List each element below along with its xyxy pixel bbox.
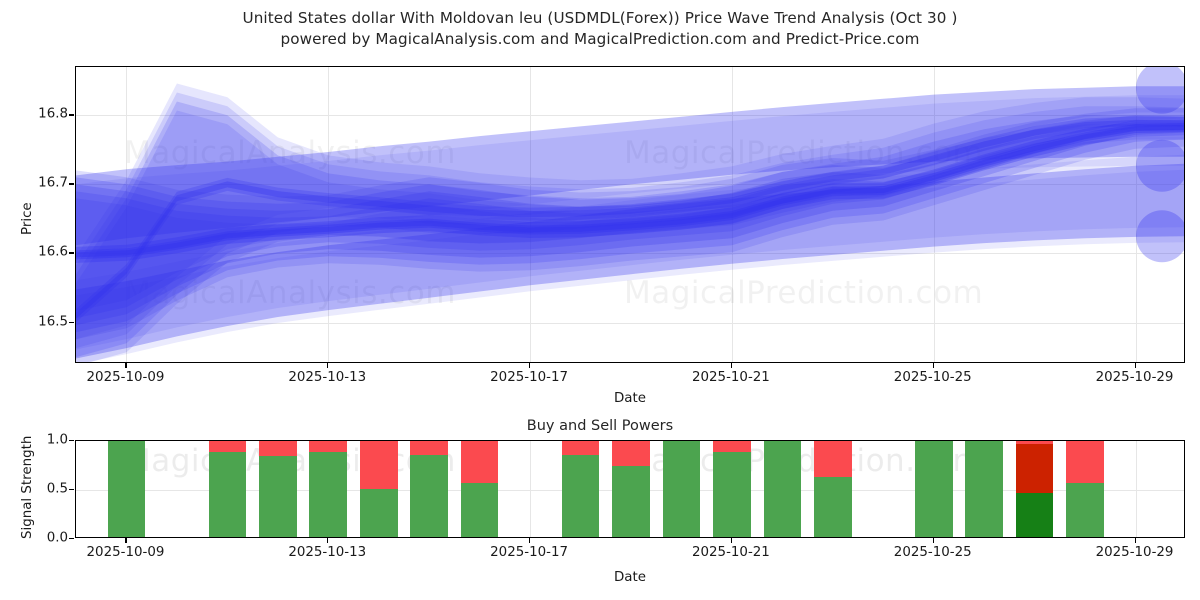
signal-bar[interactable]: [1066, 440, 1104, 537]
signal-xtick-mark-3: [731, 538, 732, 543]
signal-xtick-label-3: 2025-10-21: [692, 545, 770, 560]
buy-power-segment: [915, 440, 953, 537]
price-ytick-label-0: 16.5: [38, 314, 68, 329]
buy-power-segment: [1066, 483, 1104, 537]
signal-axis-label-x: Date: [614, 570, 646, 585]
buy-sell-powers-plot-area: MagicalAnalysis.comMagicalPrediction.com: [75, 440, 1185, 538]
signal-bar[interactable]: [108, 440, 146, 537]
sell-power-segment: [410, 440, 448, 455]
buy-power-segment: [713, 452, 751, 537]
buy-power-segment: [209, 452, 247, 537]
signal-xtick-label-5: 2025-10-29: [1096, 545, 1174, 560]
sell-power-segment: [814, 440, 852, 477]
price-ytick-label-2: 16.7: [38, 176, 68, 191]
buy-power-segment: [108, 440, 146, 537]
signal-bar[interactable]: [309, 440, 347, 537]
price-ytick-mark-0: [69, 322, 74, 323]
signal-bar[interactable]: [764, 440, 802, 537]
price-wave-bands: [76, 67, 1185, 363]
sell-power-segment: [360, 440, 398, 489]
sell-power-segment: [259, 440, 297, 456]
signal-xtick-mark-2: [529, 538, 530, 543]
signal-bar[interactable]: [209, 440, 247, 537]
price-ytick-mark-2: [69, 183, 74, 184]
price-xtick-label-0: 2025-10-09: [87, 370, 165, 385]
sell-power-segment: [612, 440, 650, 466]
buy-power-segment: [612, 466, 650, 537]
sell-power-segment: [309, 440, 347, 452]
buy-power-segment: [562, 455, 600, 537]
sell-power-cap: [1016, 440, 1054, 444]
sell-power-segment: [1016, 440, 1054, 493]
signal-bar[interactable]: [713, 440, 751, 537]
price-xtick-mark-0: [125, 363, 126, 368]
price-axis-label-x: Date: [614, 391, 646, 406]
signal-bar[interactable]: [612, 440, 650, 537]
signal-bar[interactable]: [965, 440, 1003, 537]
price-ytick-mark-3: [69, 114, 74, 115]
signal-bar[interactable]: [259, 440, 297, 537]
signal-bar[interactable]: [360, 440, 398, 537]
signal-xtick-label-0: 2025-10-09: [87, 545, 165, 560]
page-subtitle: powered by MagicalAnalysis.com and Magic…: [0, 29, 1200, 50]
price-xtick-mark-5: [1135, 363, 1136, 368]
sell-power-segment: [1066, 440, 1104, 483]
sell-power-segment: [461, 440, 499, 483]
buy-power-segment: [814, 477, 852, 537]
signal-ytick-label-1: 0.5: [47, 482, 68, 497]
signal-bar[interactable]: [915, 440, 953, 537]
sell-power-segment: [209, 440, 247, 452]
price-xtick-label-3: 2025-10-21: [692, 370, 770, 385]
price-ytick-label-3: 16.8: [38, 107, 68, 122]
signal-xtick-label-4: 2025-10-25: [894, 545, 972, 560]
signal-xtick-mark-4: [933, 538, 934, 543]
signal-ytick-mark-1: [69, 489, 74, 490]
price-wave-chart-plot-area: MagicalAnalysis.comMagicalPrediction.com…: [75, 66, 1185, 363]
signal-xtick-label-1: 2025-10-13: [288, 545, 366, 560]
signal-bar[interactable]: [814, 440, 852, 537]
chart-page: United States dollar With Moldovan leu (…: [0, 0, 1200, 600]
price-xtick-label-4: 2025-10-25: [894, 370, 972, 385]
signal-gridline-v-5: [1136, 441, 1137, 537]
price-xtick-label-5: 2025-10-29: [1096, 370, 1174, 385]
sell-power-segment: [562, 440, 600, 455]
buy-power-segment: [309, 452, 347, 537]
sell-power-segment: [713, 440, 751, 452]
buy-power-segment: [259, 456, 297, 537]
price-ytick-mark-1: [69, 252, 74, 253]
buy-power-segment: [360, 489, 398, 537]
signal-ytick-mark-2: [69, 440, 74, 441]
price-xtick-label-2: 2025-10-17: [490, 370, 568, 385]
signal-bar[interactable]: [410, 440, 448, 537]
price-xtick-mark-1: [327, 363, 328, 368]
signal-xtick-label-2: 2025-10-17: [490, 545, 568, 560]
signal-axis-label-y: Signal Strength: [20, 436, 35, 539]
page-title: United States dollar With Moldovan leu (…: [0, 8, 1200, 29]
signal-bar[interactable]: [1016, 440, 1054, 537]
price-xtick-mark-4: [933, 363, 934, 368]
signal-ytick-label-0: 0.0: [47, 531, 68, 546]
signal-bar[interactable]: [663, 440, 701, 537]
signal-xtick-mark-5: [1135, 538, 1136, 543]
price-xtick-mark-3: [731, 363, 732, 368]
price-axis-label-y: Price: [20, 202, 35, 235]
buy-power-segment: [1016, 493, 1054, 537]
signal-ytick-mark-0: [69, 538, 74, 539]
signal-bar[interactable]: [562, 440, 600, 537]
price-xtick-label-1: 2025-10-13: [288, 370, 366, 385]
price-xtick-mark-2: [529, 363, 530, 368]
buy-power-segment: [764, 440, 802, 537]
buy-power-segment: [410, 455, 448, 537]
signal-ytick-label-2: 1.0: [47, 433, 68, 448]
buy-power-segment: [663, 440, 701, 537]
buy-power-segment: [461, 483, 499, 537]
price-ytick-label-1: 16.6: [38, 245, 68, 260]
chart-title-block: United States dollar With Moldovan leu (…: [0, 8, 1200, 50]
signal-xtick-mark-1: [327, 538, 328, 543]
signal-chart-title: Buy and Sell Powers: [0, 418, 1200, 434]
buy-power-segment: [965, 440, 1003, 537]
signal-bar[interactable]: [461, 440, 499, 537]
signal-gridline-v-2: [530, 441, 531, 537]
signal-xtick-mark-0: [125, 538, 126, 543]
